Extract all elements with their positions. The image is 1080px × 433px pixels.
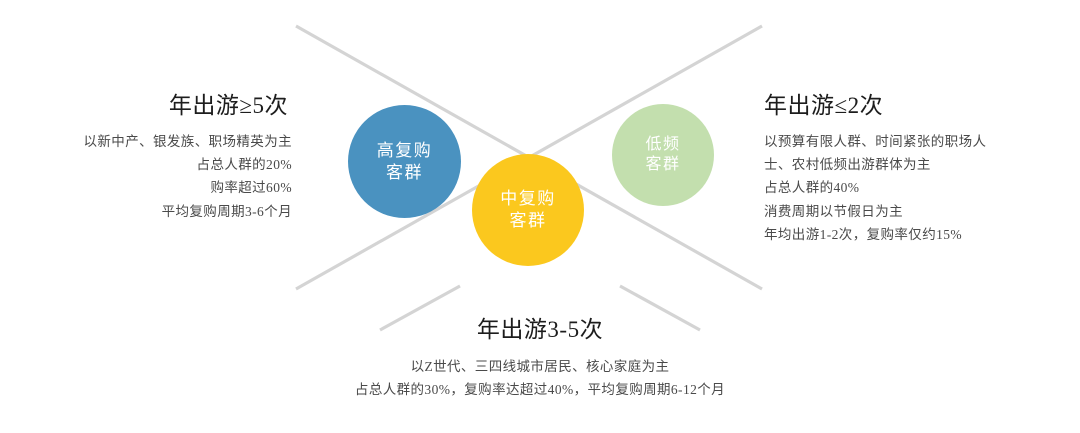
left-block-line-1: 以新中产、银发族、职场精英为主 xyxy=(0,130,292,153)
right-block-line-5: 年均出游1-2次，复购率仅约15% xyxy=(764,223,1080,246)
right-text-block: 年出游≤2次 以预算有限人群、时间紧张的职场人 士、农村低频出游群体为主 占总人… xyxy=(764,86,1080,246)
right-block-line-4: 消费周期以节假日为主 xyxy=(764,200,1080,223)
right-block-line-1: 以预算有限人群、时间紧张的职场人 xyxy=(764,130,1080,153)
left-block-line-4: 平均复购周期3-6个月 xyxy=(0,200,292,223)
bottom-block-line-2: 占总人群的30%，复购率达超过40%，平均复购周期6-12个月 xyxy=(280,378,800,401)
left-text-block: 年出游≥5次 以新中产、银发族、职场精英为主 占总人群的20% 购率超过60% … xyxy=(0,86,292,223)
right-block-line-2: 士、农村低频出游群体为主 xyxy=(764,153,1080,176)
bottom-block-heading: 年出游3-5次 xyxy=(280,310,800,344)
right-block-heading: 年出游≤2次 xyxy=(764,86,1080,120)
high-repurchase-circle[interactable]: 高复购 客群 xyxy=(348,105,461,218)
left-block-heading: 年出游≥5次 xyxy=(0,86,292,120)
mid-repurchase-circle[interactable]: 中复购 客群 xyxy=(472,154,584,266)
low-frequency-circle-line1: 低频 xyxy=(645,135,680,155)
left-block-line-2: 占总人群的20% xyxy=(0,153,292,176)
low-frequency-circle-line2: 客群 xyxy=(645,155,680,175)
low-frequency-circle[interactable]: 低频 客群 xyxy=(612,104,714,206)
left-block-line-3: 购率超过60% xyxy=(0,176,292,199)
mid-repurchase-circle-line1: 中复购 xyxy=(500,188,556,210)
mid-repurchase-circle-line2: 客群 xyxy=(510,210,547,232)
high-repurchase-circle-line2: 客群 xyxy=(386,162,423,184)
bottom-block-line-1: 以Z世代、三四线城市居民、核心家庭为主 xyxy=(280,355,800,378)
high-repurchase-circle-line1: 高复购 xyxy=(377,140,433,162)
diagram-canvas: 高复购 客群 中复购 客群 低频 客群 年出游≥5次 以新中产、银发族、职场精英… xyxy=(0,0,1080,433)
bottom-text-block: 年出游3-5次 以Z世代、三四线城市居民、核心家庭为主 占总人群的30%，复购率… xyxy=(280,310,800,401)
right-block-line-3: 占总人群的40% xyxy=(764,176,1080,199)
